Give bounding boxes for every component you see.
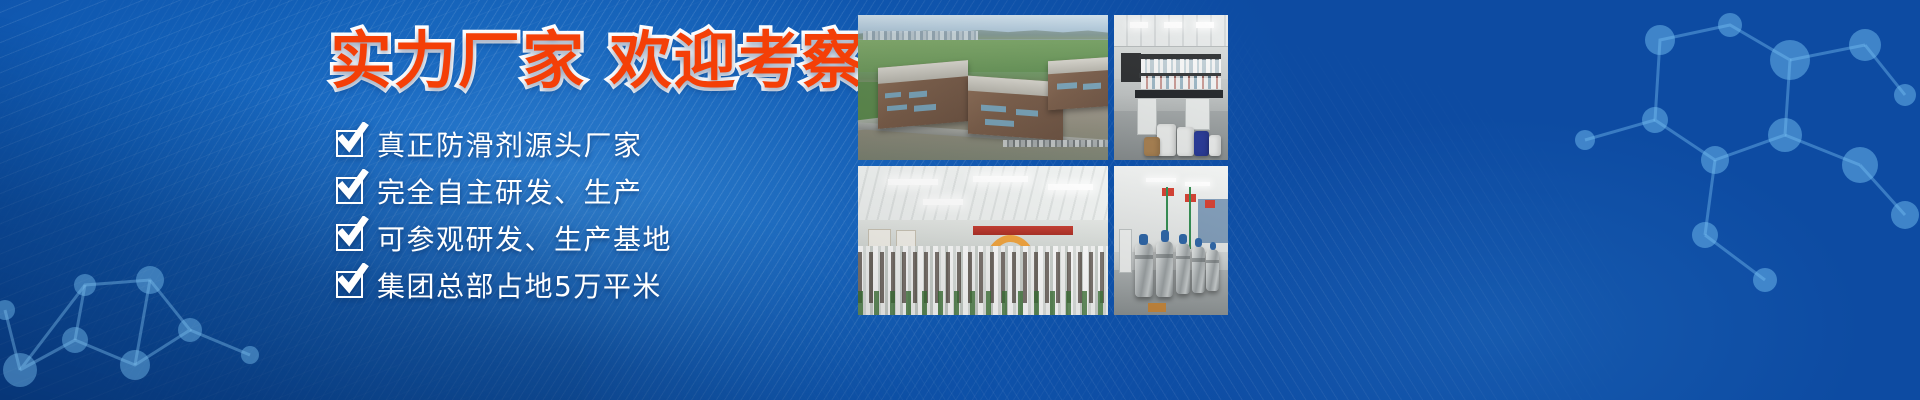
staff-group-photo — [858, 166, 1108, 315]
list-item: 集团总部占地5万平米 — [336, 264, 672, 305]
page-title: 实力厂家 欢迎考察 — [330, 30, 866, 92]
list-item-label: 真正防滑剂源头厂家 — [377, 124, 643, 164]
checkmark-icon — [336, 130, 363, 157]
list-item-label: 集团总部占地5万平米 — [377, 265, 662, 305]
banner-content: 实力厂家 欢迎考察 真正防滑剂源头厂家 完全自主研发、生产 可参观研发、生产基地 — [0, 0, 860, 400]
checkmark-icon — [336, 224, 363, 251]
aerial-campus-photo — [858, 15, 1108, 160]
checkmark-icon — [336, 177, 363, 204]
list-item: 真正防滑剂源头厂家 — [336, 123, 672, 164]
laboratory-photo — [1114, 15, 1228, 160]
production-equipment-photo — [1114, 166, 1228, 315]
feature-list: 真正防滑剂源头厂家 完全自主研发、生产 可参观研发、生产基地 集团总部占地5万平… — [336, 123, 672, 305]
molecule-structure-icon-right — [1360, 0, 1920, 400]
list-item-label: 可参观研发、生产基地 — [377, 218, 672, 258]
checkmark-icon — [336, 271, 363, 298]
list-item: 可参观研发、生产基地 — [336, 217, 672, 258]
list-item-label: 完全自主研发、生产 — [377, 171, 643, 211]
promo-banner: 实力厂家 欢迎考察 真正防滑剂源头厂家 完全自主研发、生产 可参观研发、生产基地 — [0, 0, 1920, 400]
photo-grid — [858, 15, 1228, 315]
list-item: 完全自主研发、生产 — [336, 170, 672, 211]
